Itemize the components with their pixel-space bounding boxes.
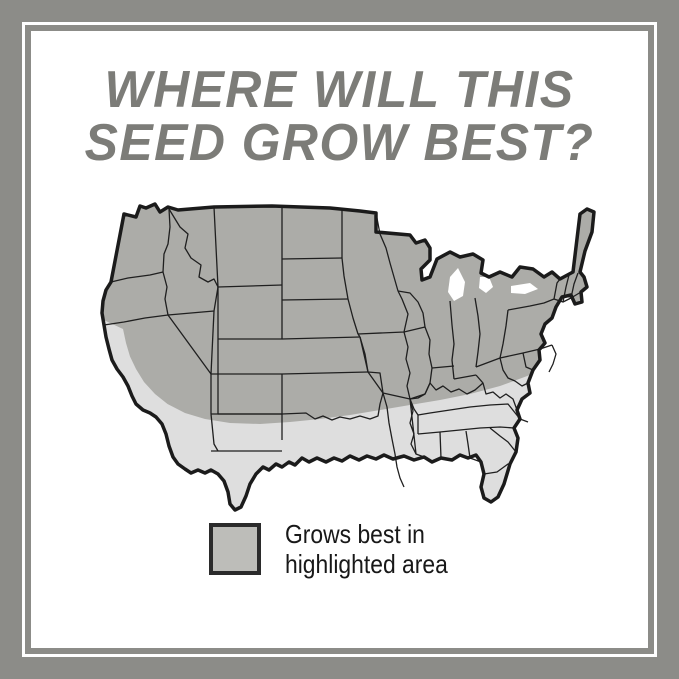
legend-label-line-2: highlighted area [285, 549, 448, 579]
map-legend: Grows best in highlighted area [34, 519, 645, 579]
legend-label: Grows best in highlighted area [285, 519, 448, 579]
title-line-1: WHERE WILL THIS [46, 66, 633, 115]
legend-label-line-1: Grows best in [285, 519, 448, 549]
page-title: WHERE WILL THIS SEED GROW BEST? [34, 66, 645, 169]
highlight-fill [80, 184, 600, 514]
highlighted-area-swatch [209, 523, 261, 575]
title-line-2: SEED GROW BEST? [46, 119, 633, 168]
us-map-svg [80, 184, 600, 514]
poster-canvas: WHERE WILL THIS SEED GROW BEST? [0, 0, 679, 679]
map-highlight-layer [80, 184, 600, 514]
us-map [80, 184, 600, 514]
poster-content: WHERE WILL THIS SEED GROW BEST? [34, 34, 645, 645]
